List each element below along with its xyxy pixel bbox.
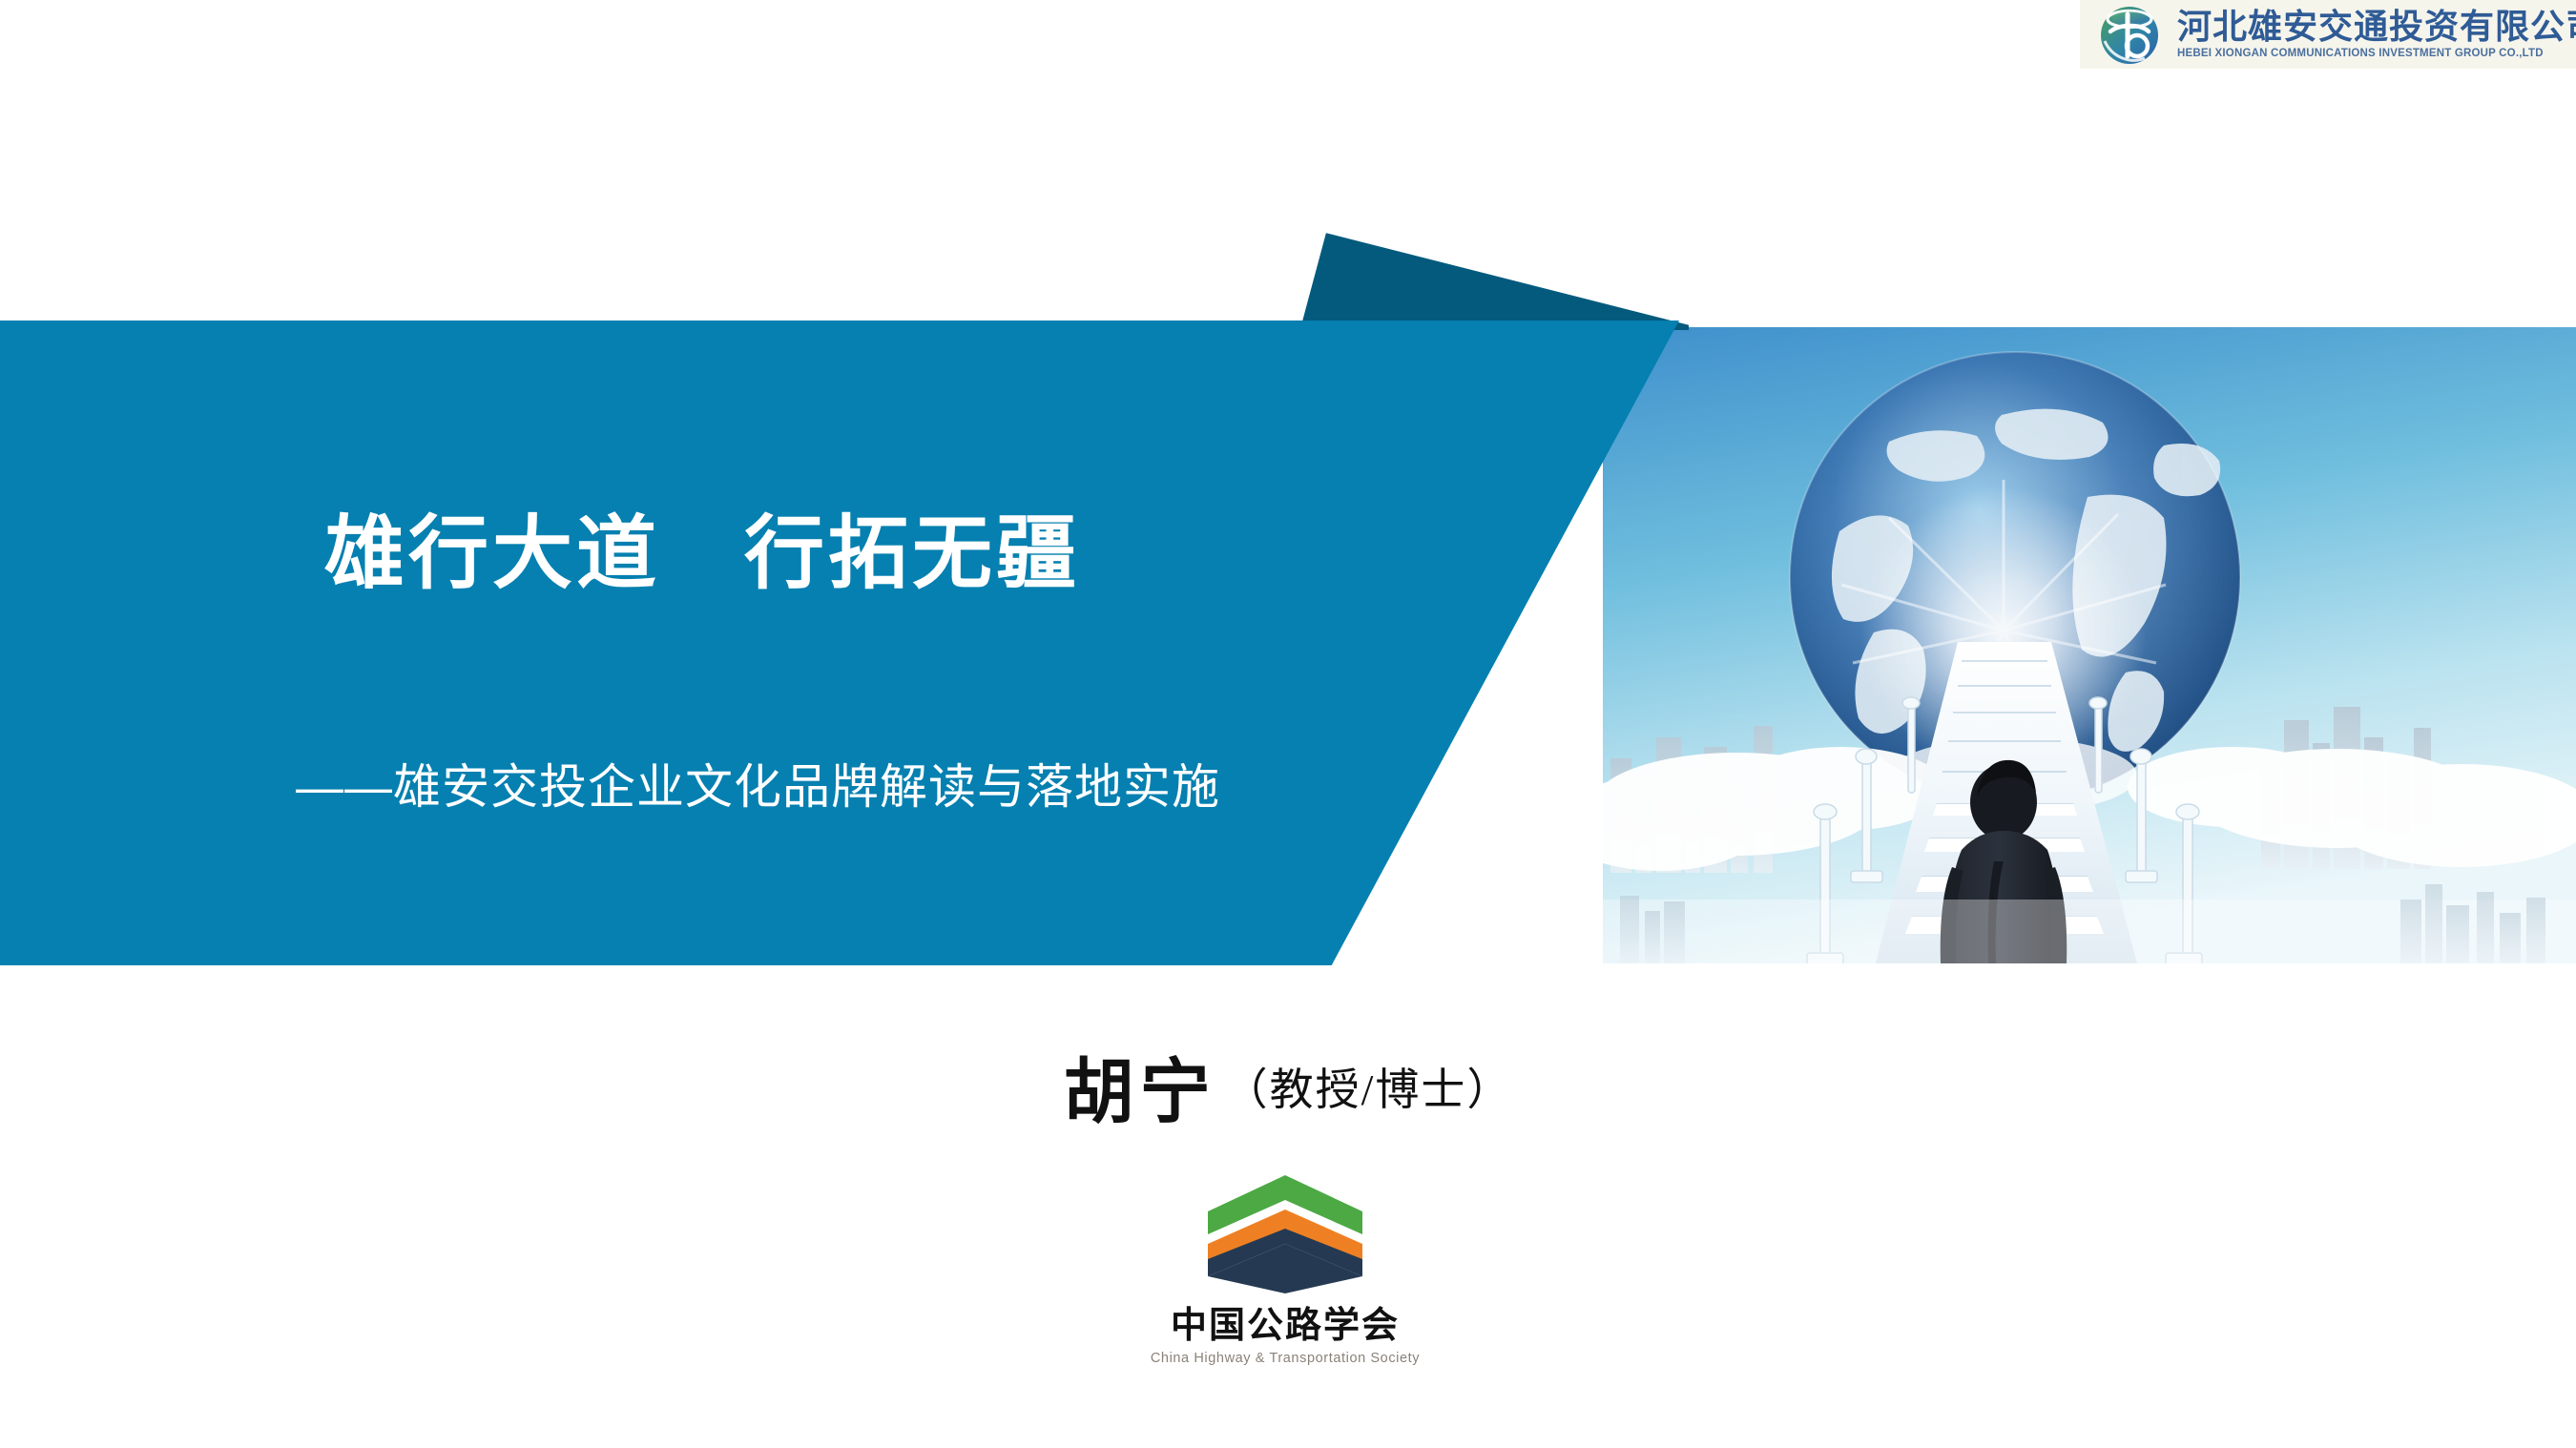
presentation-slide: 河北雄安交通投资有限公司 HEBEI XIONGAN COMMUNICATION… bbox=[0, 0, 2576, 1448]
society-name-en: China Highway & Transportation Society bbox=[1151, 1351, 1420, 1366]
society-name-cn: 中国公路学会 bbox=[1155, 1303, 1415, 1347]
corporate-name-cn: 河北雄安交通投资有限公司 bbox=[2177, 9, 2576, 45]
globe-swoosh-icon bbox=[2091, 3, 2168, 66]
presenter-line: 胡宁（教授/博士） bbox=[0, 1035, 2576, 1137]
corporate-logo-text: 河北雄安交通投资有限公司 HEBEI XIONGAN COMMUNICATION… bbox=[2177, 9, 2576, 59]
title-band-inner bbox=[0, 321, 1679, 965]
businessman-stairway-to-globe-photo bbox=[1603, 327, 2576, 963]
accent-triangle bbox=[1288, 229, 1689, 330]
title-band bbox=[0, 321, 1679, 965]
presenter-credentials: （教授/博士） bbox=[1224, 1065, 1513, 1114]
society-logo: 中国公路学会 China Highway & Transportation So… bbox=[1147, 1171, 1423, 1400]
hexagon-chevron-icon bbox=[1204, 1171, 1366, 1297]
svg-text:中国公路学会: 中国公路学会 bbox=[1171, 1305, 1400, 1346]
page-subtitle: ——雄安交投企业文化品牌解读与落地实施 bbox=[296, 758, 1220, 816]
corporate-logo: 河北雄安交通投资有限公司 HEBEI XIONGAN COMMUNICATION… bbox=[2080, 0, 2576, 69]
presenter-name: 胡宁 bbox=[1064, 1054, 1216, 1132]
corporate-name-en: HEBEI XIONGAN COMMUNICATIONS INVESTMENT … bbox=[2177, 48, 2576, 60]
page-title: 雄行大道 行拓无疆 bbox=[324, 509, 1080, 597]
